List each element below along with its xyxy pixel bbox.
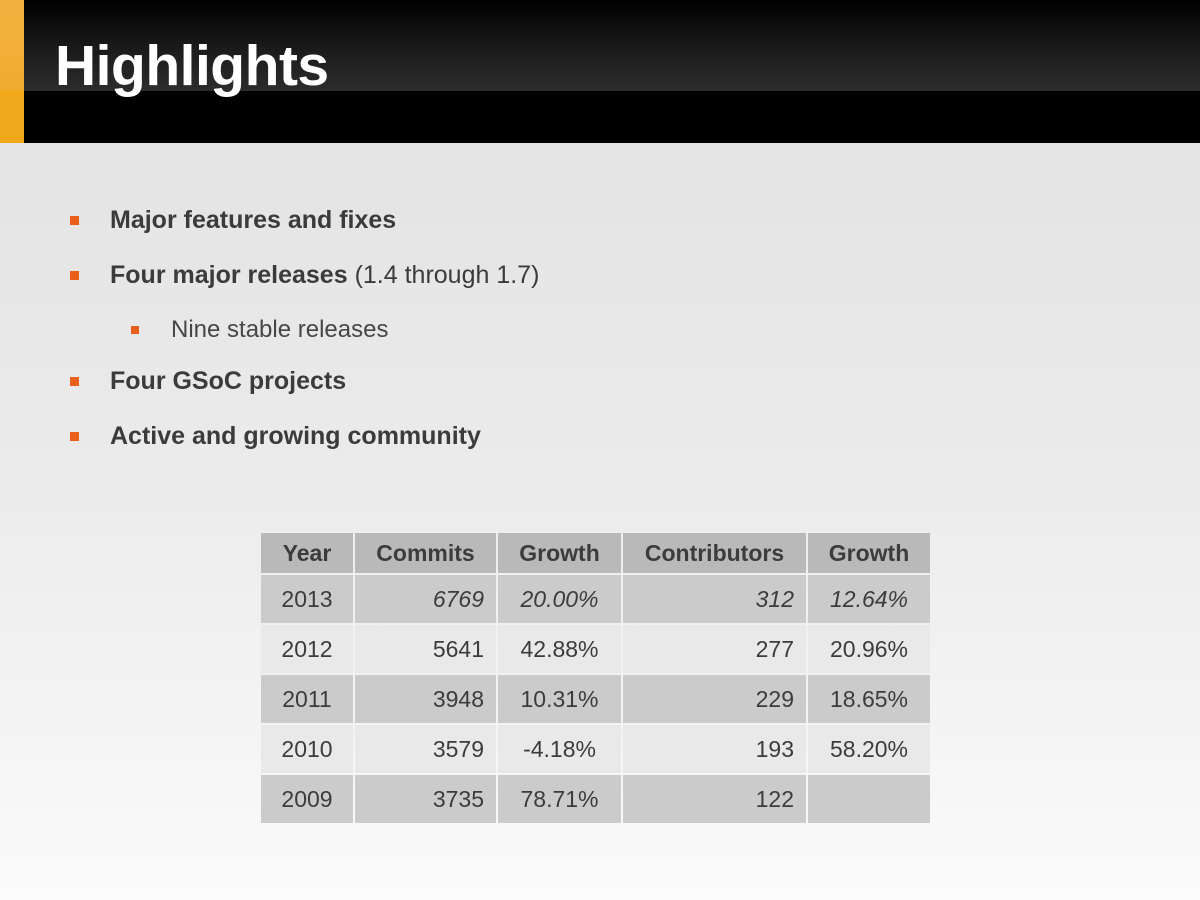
list-item-sub: Nine stable releases <box>62 313 1122 347</box>
list-item: Four GSoC projects <box>62 364 1122 398</box>
cell-growth-commits: 42.88% <box>498 625 621 673</box>
column-header-commits: Commits <box>355 533 496 573</box>
cell-year: 2013 <box>261 575 353 623</box>
list-item-label: Four major releases (1.4 through 1.7) <box>110 258 1122 292</box>
cell-growth-contributors: 20.96% <box>808 625 930 673</box>
cell-growth-contributors: 18.65% <box>808 675 930 723</box>
stats-table-container: Year Commits Growth Contributors Growth … <box>261 533 930 823</box>
cell-growth-commits: 20.00% <box>498 575 621 623</box>
list-item-bold: Four major releases <box>110 261 348 289</box>
page-title: Highlights <box>55 33 329 99</box>
column-header-contributors: Contributors <box>623 533 806 573</box>
table-row: 2012 5641 42.88% 277 20.96% <box>261 625 930 673</box>
list-item: Major features and fixes <box>62 203 1122 237</box>
list-item-bold: Active and growing community <box>110 422 481 450</box>
column-header-year: Year <box>261 533 353 573</box>
cell-commits: 3948 <box>355 675 496 723</box>
cell-contributors: 193 <box>623 725 806 773</box>
square-bullet-icon <box>70 271 79 280</box>
square-bullet-icon <box>70 377 79 386</box>
cell-contributors: 277 <box>623 625 806 673</box>
slide: Highlights Major features and fixes Four… <box>0 0 1200 900</box>
table-row: 2011 3948 10.31% 229 18.65% <box>261 675 930 723</box>
cell-contributors: 122 <box>623 775 806 823</box>
cell-growth-contributors <box>808 775 930 823</box>
cell-growth-commits: 78.71% <box>498 775 621 823</box>
table-row: 2010 3579 -4.18% 193 58.20% <box>261 725 930 773</box>
cell-commits: 6769 <box>355 575 496 623</box>
cell-contributors: 312 <box>623 575 806 623</box>
square-bullet-icon <box>131 326 139 334</box>
cell-growth-commits: -4.18% <box>498 725 621 773</box>
cell-contributors: 229 <box>623 675 806 723</box>
list-item-bold: Four GSoC projects <box>110 367 346 395</box>
table-header: Year Commits Growth Contributors Growth <box>261 533 930 573</box>
table-row: 2009 3735 78.71% 122 <box>261 775 930 823</box>
list-item: Four major releases (1.4 through 1.7) <box>62 258 1122 292</box>
accent-bar-top <box>0 0 24 91</box>
cell-growth-contributors: 58.20% <box>808 725 930 773</box>
column-header-growth-contributors: Growth <box>808 533 930 573</box>
table-row: 2013 6769 20.00% 312 12.64% <box>261 575 930 623</box>
table-body: 2013 6769 20.00% 312 12.64% 2012 5641 42… <box>261 575 930 823</box>
bullet-list: Major features and fixes Four major rele… <box>62 203 1122 474</box>
cell-year: 2012 <box>261 625 353 673</box>
list-item-label: Four GSoC projects <box>110 364 1122 398</box>
table-header-row: Year Commits Growth Contributors Growth <box>261 533 930 573</box>
list-item-label: Active and growing community <box>110 419 1122 453</box>
column-header-growth-commits: Growth <box>498 533 621 573</box>
cell-commits: 3735 <box>355 775 496 823</box>
list-item-normal: Nine stable releases <box>171 316 388 343</box>
list-item-label: Major features and fixes <box>110 203 1122 237</box>
stats-table: Year Commits Growth Contributors Growth … <box>259 531 932 825</box>
list-item: Active and growing community <box>62 419 1122 453</box>
cell-year: 2009 <box>261 775 353 823</box>
list-item-bold: Major features and fixes <box>110 206 396 234</box>
square-bullet-icon <box>70 432 79 441</box>
slide-header: Highlights <box>0 0 1200 143</box>
cell-commits: 3579 <box>355 725 496 773</box>
cell-growth-commits: 10.31% <box>498 675 621 723</box>
cell-commits: 5641 <box>355 625 496 673</box>
list-item-label: Nine stable releases <box>171 313 1122 347</box>
cell-growth-contributors: 12.64% <box>808 575 930 623</box>
accent-bar-bottom <box>0 91 24 143</box>
cell-year: 2010 <box>261 725 353 773</box>
list-item-normal: (1.4 through 1.7) <box>348 261 540 289</box>
square-bullet-icon <box>70 216 79 225</box>
cell-year: 2011 <box>261 675 353 723</box>
